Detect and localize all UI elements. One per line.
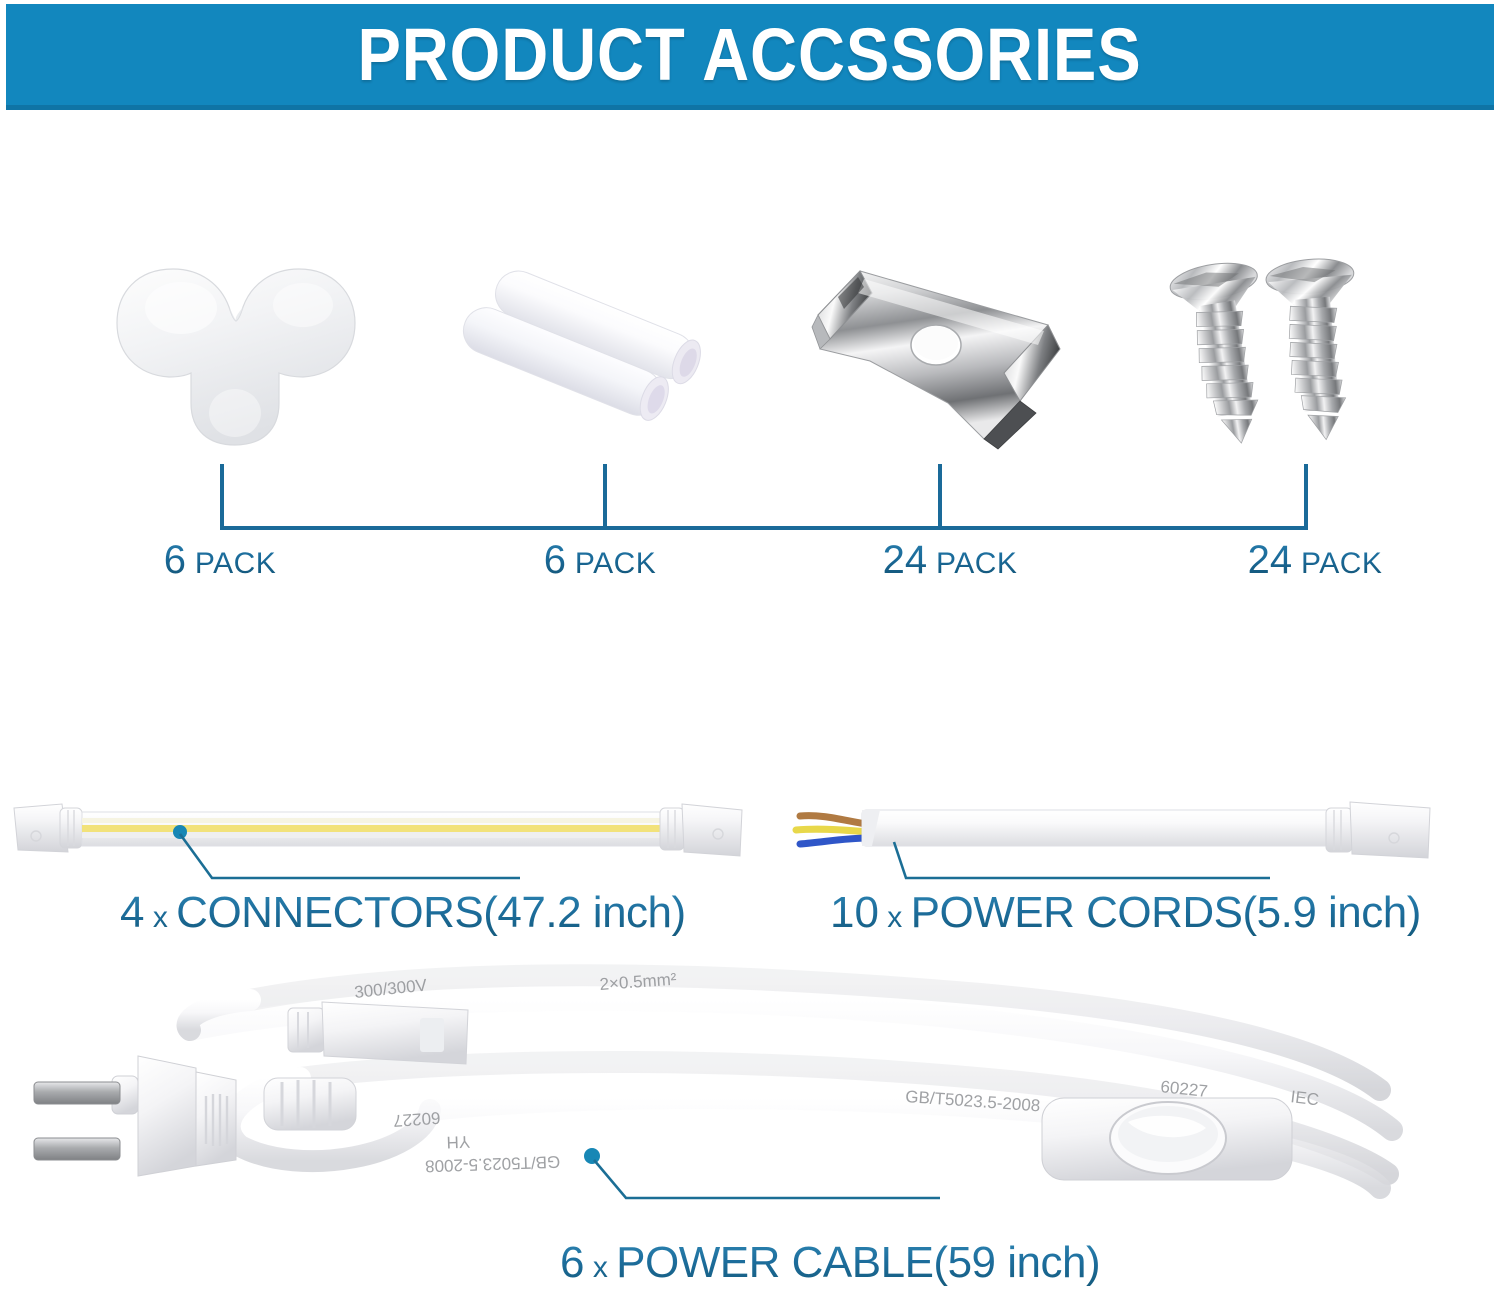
product-image-mounting-clip	[95, 236, 385, 466]
pack-unit: PACK	[936, 547, 1017, 580]
header-banner: PRODUCT ACCSSORIES	[6, 4, 1494, 110]
pack-qty: 6	[544, 538, 566, 582]
pack-unit: PACK	[1301, 547, 1382, 580]
product-image-tube-connector	[450, 236, 745, 466]
pack-label-mounting-clip: 6 PACK	[60, 538, 380, 583]
leader-line-power-cords	[894, 842, 1270, 878]
power-cable-label: POWER CABLE(59 inch)	[616, 1238, 1100, 1287]
metal-bracket-clip-icon	[798, 253, 1068, 449]
product-image-metal-bracket	[790, 236, 1075, 466]
multiplier: x	[887, 901, 902, 934]
connectors-qty: 4	[120, 888, 144, 937]
pack-qty: 24	[1248, 538, 1293, 582]
product-image-screws	[1150, 236, 1405, 466]
power-cords-qty: 10	[830, 888, 879, 937]
pack-unit: PACK	[195, 547, 276, 580]
product-accessories-infographic: PRODUCT ACCSSORIES	[0, 0, 1500, 1307]
quantity-labels: 6 PACK 6 PACK 24 PACK 24 PACK	[0, 538, 1500, 598]
cable-marking: IEC	[1290, 1087, 1320, 1109]
screw-pair-icon	[1158, 246, 1398, 456]
double-tube-connector-icon	[458, 251, 738, 451]
accessory-items-row	[0, 236, 1500, 466]
caption-power-cords: 10 x POWER CORDS(5.9 inch)	[830, 888, 1421, 938]
power-cable-icon: 300/300V 2×0.5mm² GB/T5023.5-2008 60227 …	[0, 960, 1500, 1250]
pack-qty: 24	[883, 538, 928, 582]
pack-label-tube-connector: 6 PACK	[440, 538, 760, 583]
multiplier: x	[153, 901, 168, 934]
leader-line-power-cable	[584, 1148, 940, 1198]
page-title: PRODUCT ACCSSORIES	[358, 12, 1142, 97]
cable-marking: YH	[446, 1132, 470, 1152]
cable-marking: GB/T5023.5-2008	[425, 1152, 561, 1176]
power-cable-qty: 6	[560, 1238, 584, 1287]
pack-label-screws: 24 PACK	[1150, 538, 1480, 583]
cable-row-graphics	[0, 780, 1500, 970]
t8-connector	[288, 1002, 468, 1064]
trefoil-clip-icon	[111, 253, 369, 449]
pack-unit: PACK	[575, 547, 656, 580]
power-cords-label: POWER CORDS(5.9 inch)	[911, 888, 1421, 937]
strain-relief-sleeve	[264, 1078, 356, 1130]
cable-row-middle	[0, 780, 1500, 970]
power-cable-assembly: 300/300V 2×0.5mm² GB/T5023.5-2008 60227 …	[0, 960, 1500, 1250]
caption-connectors: 4 x CONNECTORS(47.2 inch)	[120, 888, 686, 938]
caption-power-cable: 6 x POWER CABLE(59 inch)	[560, 1238, 1100, 1288]
inline-rocker-switch	[1042, 1098, 1292, 1180]
connectors-label: CONNECTORS(47.2 inch)	[176, 888, 686, 937]
us-plug	[34, 1056, 236, 1176]
cable-marking: 60227	[393, 1108, 441, 1130]
pack-label-metal-bracket: 24 PACK	[790, 538, 1110, 583]
multiplier: x	[593, 1251, 608, 1284]
power-cord-icon	[796, 802, 1430, 858]
connector-cable-icon	[14, 804, 742, 856]
pack-qty: 6	[164, 538, 186, 582]
